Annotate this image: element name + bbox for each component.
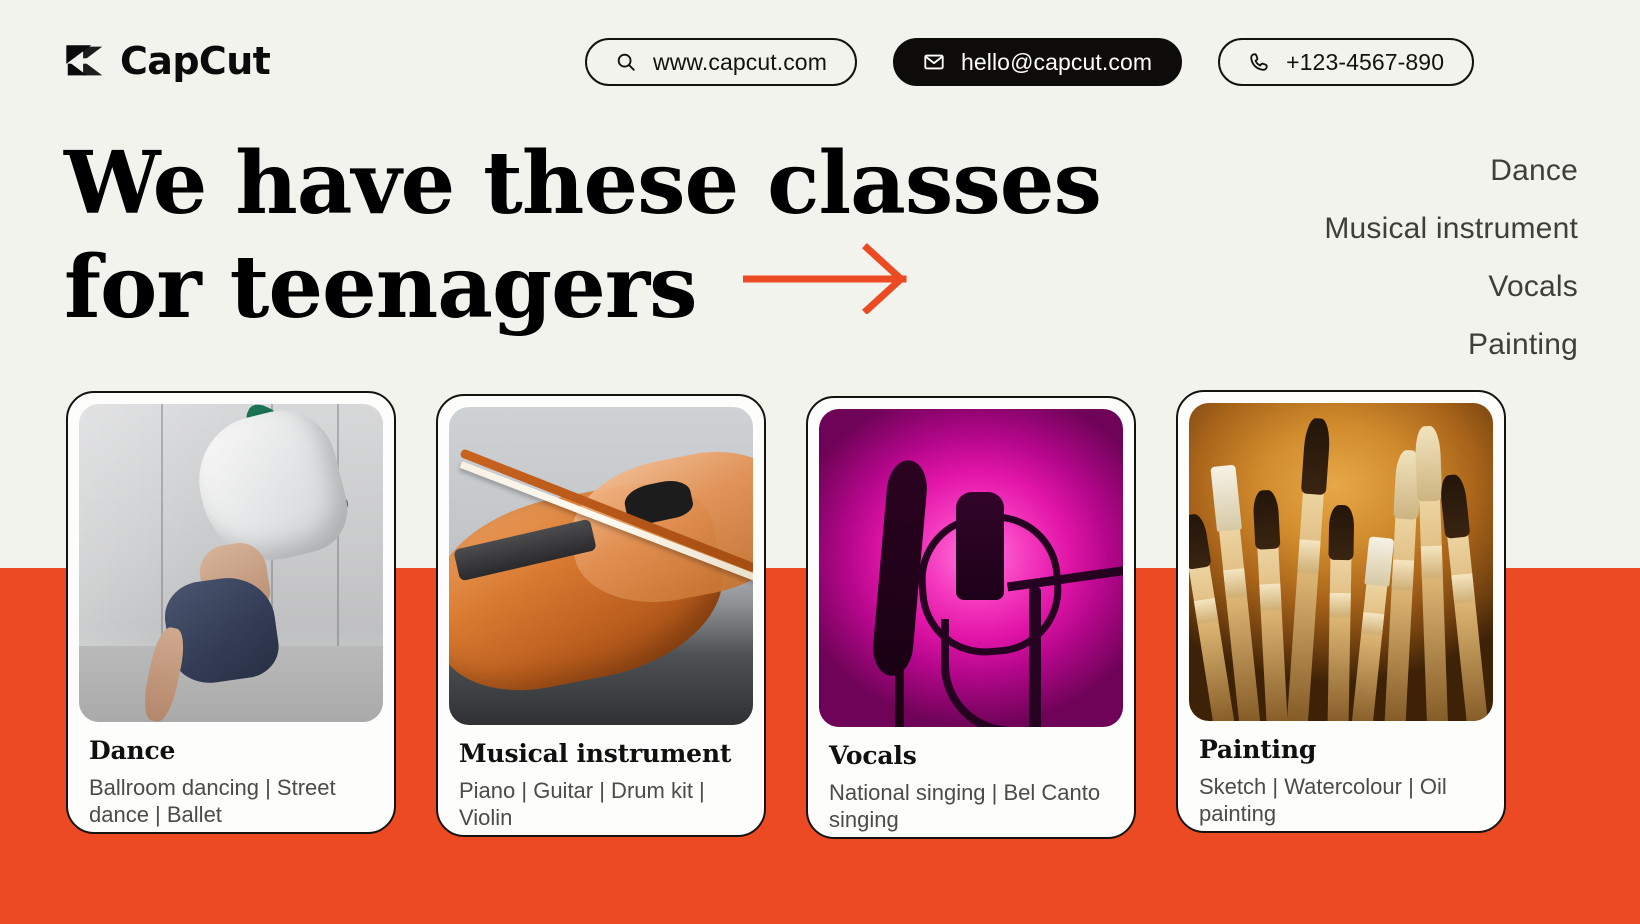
card-body-dance: Dance Ballroom dancing | Street dance | …	[79, 722, 383, 828]
paintbrushes-amber-photo	[1189, 403, 1493, 721]
card-body-vocals: Vocals National singing | Bel Canto sing…	[819, 727, 1123, 833]
card-body-painting: Painting Sketch | Watercolour | Oil pain…	[1189, 721, 1493, 827]
studio-microphone-magenta-photo	[819, 409, 1123, 727]
class-card-painting[interactable]: Painting Sketch | Watercolour | Oil pain…	[1176, 390, 1506, 833]
class-card-dance[interactable]: Dance Ballroom dancing | Street dance | …	[66, 391, 396, 834]
card-image-painting	[1189, 403, 1493, 721]
poster-canvas: CapCut www.capcut.com hello@capcut.com	[0, 0, 1640, 924]
card-description-musical-instrument: Piano | Guitar | Drum kit | Violin	[459, 777, 743, 831]
class-card-musical-instrument[interactable]: Musical instrument Piano | Guitar | Drum…	[436, 394, 766, 837]
card-title-musical-instrument: Musical instrument	[459, 739, 743, 768]
card-title-painting: Painting	[1199, 735, 1483, 764]
card-body-musical-instrument: Musical instrument Piano | Guitar | Drum…	[449, 725, 753, 831]
card-title-dance: Dance	[89, 736, 373, 765]
card-description-painting: Sketch | Watercolour | Oil painting	[1199, 773, 1483, 827]
breakdancer-handstand-photo	[79, 404, 383, 722]
card-title-vocals: Vocals	[829, 741, 1113, 770]
card-image-musical-instrument	[449, 407, 753, 725]
card-image-vocals	[819, 409, 1123, 727]
card-image-dance	[79, 404, 383, 722]
class-card-vocals[interactable]: Vocals National singing | Bel Canto sing…	[806, 396, 1136, 839]
class-card-grid: Dance Ballroom dancing | Street dance | …	[0, 0, 1640, 924]
card-description-vocals: National singing | Bel Canto singing	[829, 779, 1113, 833]
card-description-dance: Ballroom dancing | Street dance | Ballet	[89, 774, 373, 828]
violin-and-bow-photo	[449, 407, 753, 725]
